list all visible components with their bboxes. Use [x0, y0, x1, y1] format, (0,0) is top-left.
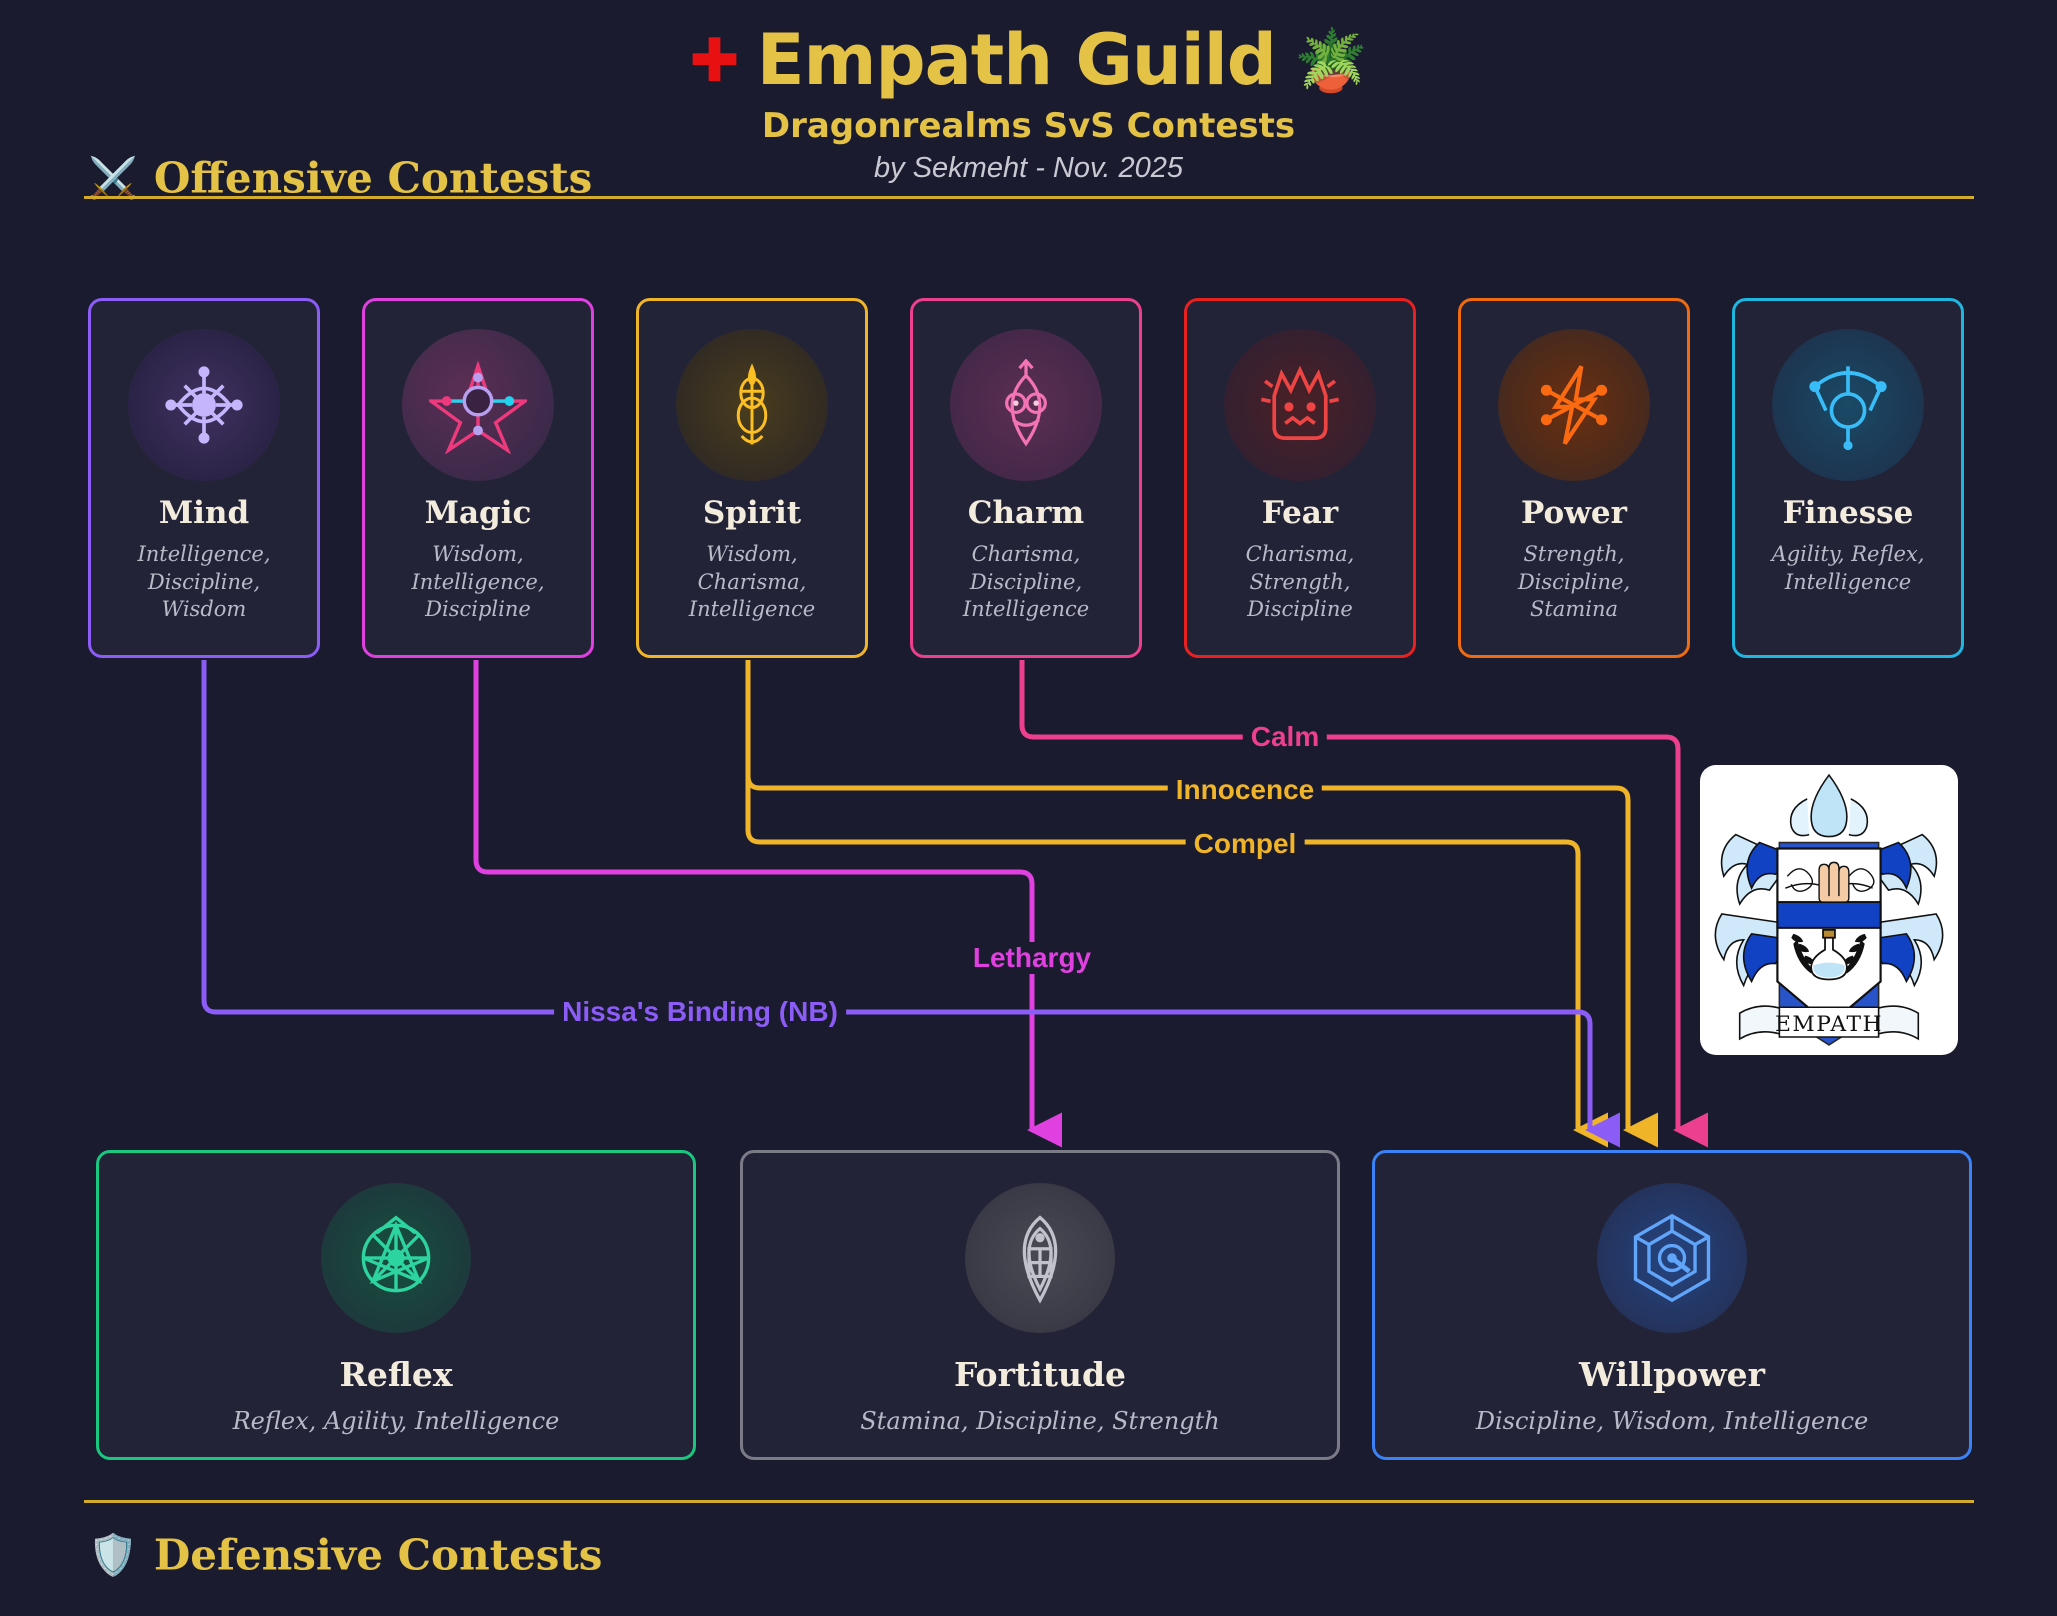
- wire-label-calm: Calm: [1243, 721, 1327, 753]
- wire-label-compel: Compel: [1186, 828, 1305, 860]
- card-name: Finesse: [1783, 495, 1914, 531]
- card-stats: Stamina, Discipline, Strength: [850, 1406, 1230, 1438]
- spirit-flame-icon: [709, 362, 795, 448]
- offensive-card-mind[interactable]: Mind Intelligence, Discipline, Wisdom: [88, 298, 320, 658]
- offensive-card-power[interactable]: Power Strength, Discipline, Stamina: [1458, 298, 1690, 658]
- card-stats: Agility, Reflex, Intelligence: [1762, 541, 1935, 596]
- card-name: Willpower: [1579, 1355, 1765, 1394]
- card-name: Magic: [425, 495, 532, 531]
- spirit-orb: [676, 329, 828, 481]
- finesse-arc-icon: [1802, 359, 1894, 451]
- card-name: Power: [1521, 495, 1627, 531]
- fear-mask-icon: [1254, 359, 1346, 451]
- card-stats: Wisdom, Intelligence, Discipline: [401, 541, 554, 624]
- card-name: Fortitude: [954, 1355, 1126, 1394]
- wire-label-nissas-binding: Nissa's Binding (NB): [554, 996, 846, 1028]
- card-stats: Wisdom, Charisma, Intelligence: [679, 541, 825, 624]
- wire-nissas-binding: [204, 660, 1590, 1130]
- card-name: Fear: [1262, 495, 1338, 531]
- card-stats: Strength, Discipline, Stamina: [1508, 541, 1640, 624]
- defensive-card-reflex[interactable]: Reflex Reflex, Agility, Intelligence: [96, 1150, 696, 1460]
- card-name: Mind: [159, 495, 249, 531]
- charm-face-icon: [980, 359, 1072, 451]
- crest-banner: EMPATH: [1740, 1006, 1919, 1039]
- card-stats: Discipline, Wisdom, Intelligence: [1466, 1406, 1879, 1438]
- magic-orb: [402, 329, 554, 481]
- card-stats: Charisma, Strength, Discipline: [1236, 541, 1365, 624]
- card-name: Reflex: [339, 1355, 452, 1394]
- mind-orb: [128, 329, 280, 481]
- crest-hand: [1819, 862, 1849, 902]
- card-stats: Intelligence, Discipline, Wisdom: [127, 541, 280, 624]
- card-stats: Reflex, Agility, Intelligence: [223, 1406, 570, 1438]
- charm-orb: [950, 329, 1102, 481]
- wire-innocence: [748, 660, 1628, 1130]
- fortitude-shield-icon: [994, 1212, 1086, 1304]
- power-orb: [1498, 329, 1650, 481]
- wire-compel: [748, 660, 1578, 1130]
- fear-orb: [1224, 329, 1376, 481]
- crest-droplet-swirl-left: [1791, 799, 1810, 836]
- card-name: Spirit: [703, 495, 801, 531]
- crest-fess-bar: [1777, 902, 1880, 928]
- offensive-card-fear[interactable]: Fear Charisma, Strength, Discipline: [1184, 298, 1416, 658]
- reflex-orb: [321, 1183, 471, 1333]
- crest-water-droplet: [1811, 775, 1847, 837]
- wire-label-lethargy: Lethargy: [965, 942, 1099, 974]
- offensive-card-finesse[interactable]: Finesse Agility, Reflex, Intelligence: [1732, 298, 1964, 658]
- offensive-card-spirit[interactable]: Spirit Wisdom, Charisma, Intelligence: [636, 298, 868, 658]
- wire-label-innocence: Innocence: [1168, 774, 1322, 806]
- mind-compass-icon: [158, 359, 250, 451]
- crest-droplet-swirl-right: [1849, 799, 1868, 836]
- willpower-core-icon: [1624, 1210, 1720, 1306]
- offensive-card-charm[interactable]: Charm Charisma, Discipline, Intelligence: [910, 298, 1142, 658]
- fortitude-orb: [965, 1183, 1115, 1333]
- offensive-card-magic[interactable]: Magic Wisdom, Intelligence, Discipline: [362, 298, 594, 658]
- willpower-orb: [1597, 1183, 1747, 1333]
- defensive-card-fortitude[interactable]: Fortitude Stamina, Discipline, Strength: [740, 1150, 1340, 1460]
- card-name: Charm: [968, 495, 1084, 531]
- card-stats: Charisma, Discipline, Intelligence: [953, 541, 1099, 624]
- wire-lethargy: [476, 660, 1032, 1130]
- reflex-wheel-icon: [348, 1210, 444, 1306]
- empath-guild-crest: EMPATH: [1700, 765, 1958, 1055]
- finesse-orb: [1772, 329, 1924, 481]
- magic-star-icon: [429, 356, 527, 454]
- power-bolt-icon: [1528, 359, 1620, 451]
- crest-banner-text: EMPATH: [1775, 1012, 1883, 1037]
- crest-artwork: EMPATH: [1700, 765, 1958, 1055]
- defensive-card-willpower[interactable]: Willpower Discipline, Wisdom, Intelligen…: [1372, 1150, 1972, 1460]
